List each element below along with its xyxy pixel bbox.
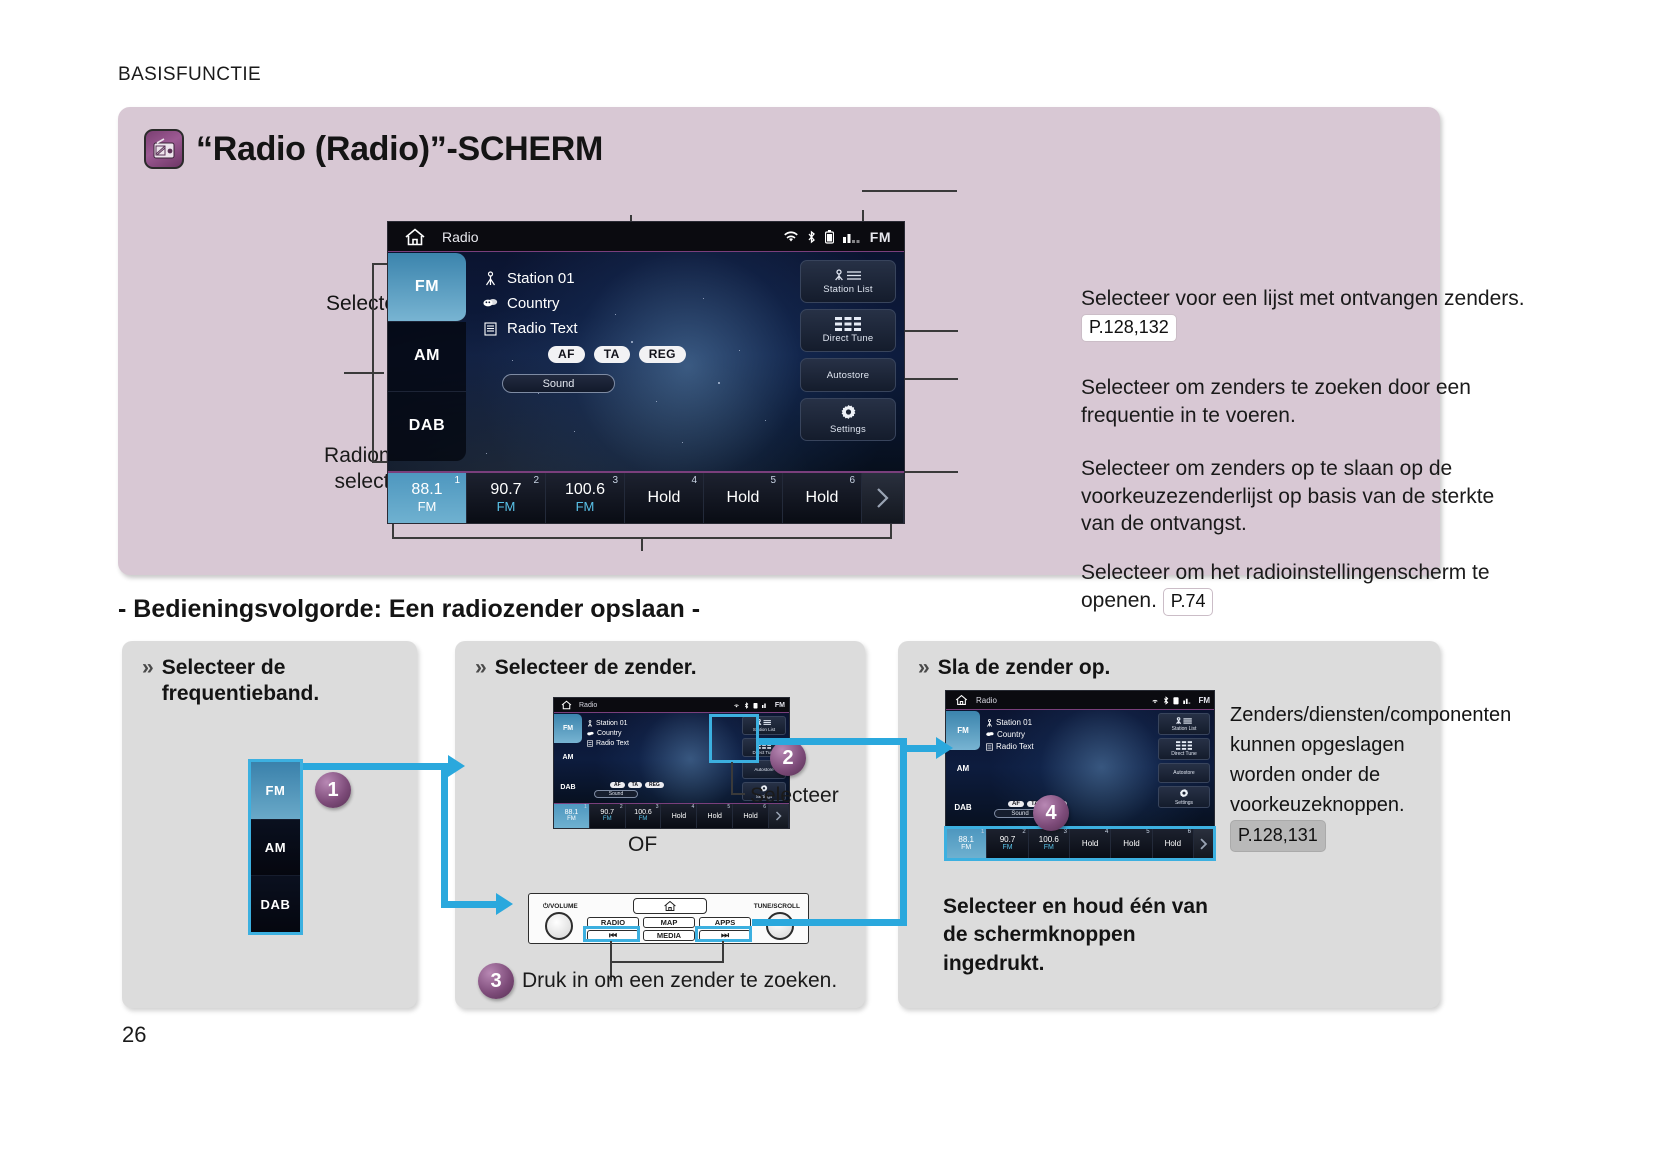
preset-number: 3 bbox=[656, 804, 659, 810]
procedure-title: - Bedieningsvolgorde: Een radiozender op… bbox=[118, 595, 700, 624]
leader-line bbox=[722, 941, 724, 963]
station-list-label: Station List bbox=[1172, 726, 1197, 732]
band-dab[interactable]: DAB bbox=[554, 773, 582, 802]
page-title: “Radio (Radio)”-SCHERM bbox=[196, 130, 603, 169]
status-icons: FM bbox=[1151, 696, 1214, 705]
radio-text: Radio Text bbox=[507, 320, 578, 337]
direct-tune-button[interactable]: Direct Tune bbox=[1158, 738, 1210, 760]
status-bar: Radio FM bbox=[554, 698, 789, 713]
tune-scroll-knob[interactable] bbox=[766, 912, 794, 940]
band-badge: FM bbox=[775, 702, 785, 709]
battery-icon bbox=[753, 702, 758, 709]
genre-name: Country bbox=[507, 295, 560, 312]
select-label: Selecteer bbox=[750, 784, 839, 808]
leader-line bbox=[731, 762, 733, 795]
flow-arrow-1-v bbox=[441, 763, 448, 908]
preset-number: 1 bbox=[584, 804, 587, 810]
bluetooth-icon bbox=[807, 230, 816, 244]
radio-screen[interactable]: Radio FM FM AM DAB Station 01 Country bbox=[387, 221, 905, 524]
preset-3[interactable]: 3100.6FM bbox=[626, 804, 662, 828]
home-icon bbox=[663, 900, 677, 912]
leader-line bbox=[862, 190, 957, 192]
settings-button[interactable]: Settings bbox=[1158, 786, 1210, 808]
step-bullet-3: 3 bbox=[478, 963, 514, 999]
autostore-button[interactable]: Autostore bbox=[1158, 763, 1210, 783]
tag-reg[interactable]: REG bbox=[639, 346, 686, 363]
callout-autostore: Selecteer om zenders op te slaan op de v… bbox=[1081, 455, 1531, 538]
keypad-icon bbox=[835, 317, 861, 331]
preset-note: Zenders/diensten/componenten kunnen opge… bbox=[1230, 700, 1435, 852]
direct-tune-label: Direct Tune bbox=[823, 333, 874, 344]
callout-text: Selecteer om zenders op te slaan op de v… bbox=[1081, 457, 1494, 535]
step-bullet-4: 4 bbox=[1033, 795, 1069, 831]
home-icon[interactable] bbox=[388, 227, 442, 247]
preset-number: 3 bbox=[612, 475, 618, 486]
preset-frequency: 88.1 bbox=[565, 809, 579, 816]
map-button[interactable]: MAP bbox=[643, 917, 695, 928]
home-button[interactable] bbox=[633, 898, 707, 914]
side-button-column[interactable]: Station List Direct Tune Autostore Setti… bbox=[1158, 713, 1210, 811]
status-bar: Radio FM bbox=[946, 691, 1214, 710]
home-icon[interactable] bbox=[946, 694, 976, 706]
flow-arrow-2-h bbox=[759, 738, 907, 745]
preset-number: 2 bbox=[620, 804, 623, 810]
tag-af[interactable]: AF bbox=[1008, 801, 1024, 807]
autostore-label: Autostore bbox=[827, 370, 869, 381]
info-row: Radio Text bbox=[587, 740, 629, 747]
tag-ta[interactable]: TA bbox=[628, 782, 642, 788]
preset-frequency: Hold bbox=[806, 490, 839, 507]
settings-button[interactable]: Settings bbox=[800, 398, 896, 441]
tag-af[interactable]: AF bbox=[610, 782, 625, 788]
step-3-heading: » Sla de zender op. bbox=[918, 655, 1426, 681]
step-1-heading: » Selecteer de frequentieband. bbox=[142, 655, 403, 706]
station-list-button[interactable]: Station List bbox=[800, 260, 896, 303]
band-fm[interactable]: FM bbox=[554, 714, 582, 743]
leader-line bbox=[610, 961, 724, 963]
autostore-label: Autostore bbox=[754, 767, 773, 772]
hold-instruction: Selecteer en houd één van de schermknopp… bbox=[943, 893, 1233, 978]
band-strip-am[interactable]: AM bbox=[251, 819, 300, 876]
preset-number: 1 bbox=[454, 475, 460, 486]
bluetooth-icon bbox=[1163, 696, 1169, 705]
info-row: Radio Text bbox=[986, 742, 1034, 751]
step-2-heading-text: Selecteer de zender. bbox=[495, 655, 697, 681]
preset-2[interactable]: 2 90.7 FM bbox=[467, 473, 546, 523]
wifi-icon bbox=[733, 702, 740, 708]
band-fm[interactable]: FM bbox=[388, 253, 466, 322]
flow-arrow-1-tip-b bbox=[496, 893, 513, 915]
battery-icon bbox=[1173, 696, 1179, 705]
antenna-icon bbox=[482, 271, 498, 287]
chevron-right-icon bbox=[774, 809, 783, 823]
callout-station-list: Selecteer voor een lijst met ontvangen z… bbox=[1081, 285, 1531, 342]
leader-line bbox=[731, 793, 745, 795]
preset-next-button[interactable] bbox=[862, 473, 904, 523]
battery-icon bbox=[825, 230, 834, 244]
step-bullet-2: 2 bbox=[770, 740, 806, 776]
preset-frequency: Hold bbox=[708, 813, 722, 820]
info-row: Country bbox=[482, 295, 578, 312]
info-row: Radio Text bbox=[482, 320, 578, 337]
step-2-heading: » Selecteer de zender. bbox=[475, 655, 851, 681]
page-ref-badge: P.74 bbox=[1163, 588, 1214, 617]
preset-band: FM bbox=[639, 816, 648, 823]
wifi-icon bbox=[1151, 697, 1159, 704]
gear-icon bbox=[1179, 789, 1189, 799]
tag-ta[interactable]: TA bbox=[594, 346, 630, 363]
tune-label: TUNE/SCROLL bbox=[754, 903, 800, 910]
preset-number: 4 bbox=[692, 804, 695, 810]
preset-3[interactable]: 3 100.6 FM bbox=[546, 473, 625, 523]
preset-6[interactable]: 6 Hold bbox=[783, 473, 862, 523]
preset-frequency: 88.1 bbox=[411, 482, 442, 499]
status-bar: Radio FM bbox=[388, 222, 904, 252]
preset-band: FM bbox=[418, 499, 437, 514]
gear-icon bbox=[840, 405, 857, 422]
preset-1[interactable]: 1 88.1 FM bbox=[388, 473, 467, 523]
preset-note-text: Zenders/diensten/componenten kunnen opge… bbox=[1230, 704, 1511, 816]
preset-number: 5 bbox=[770, 475, 776, 486]
info-row: Station 01 bbox=[482, 270, 578, 287]
press-to-seek-label: Druk in om een zender te zoeken. bbox=[522, 969, 837, 993]
preset-band: FM bbox=[603, 816, 612, 823]
preset-frequency: Hold bbox=[648, 490, 681, 507]
screen-title-label: Radio bbox=[579, 702, 597, 709]
settings-label: Settings bbox=[1175, 800, 1193, 806]
leader-line bbox=[641, 537, 643, 551]
preset-number: 5 bbox=[727, 804, 730, 810]
callout-text: Selecteer om het radioinstellingenscherm… bbox=[1081, 561, 1490, 612]
step-3-heading-text: Sla de zender op. bbox=[938, 655, 1111, 681]
tag-af[interactable]: AF bbox=[548, 346, 585, 363]
station-name: Station 01 bbox=[507, 270, 575, 287]
genre-icon bbox=[587, 731, 594, 737]
radio-icon bbox=[144, 129, 184, 169]
text-icon bbox=[482, 321, 498, 337]
flow-arrow-3-h2 bbox=[900, 745, 940, 752]
band-am[interactable]: AM bbox=[388, 322, 466, 391]
highlight-preset-bar bbox=[944, 826, 1216, 861]
band-selector[interactable]: FM AM DAB bbox=[388, 253, 466, 461]
preset-band: FM bbox=[497, 499, 516, 514]
genre-icon bbox=[986, 731, 994, 738]
info-row: Station 01 bbox=[587, 720, 629, 727]
flow-arrow-1-h bbox=[303, 763, 448, 770]
flow-arrow-3-v bbox=[900, 745, 907, 926]
info-row: Station 01 bbox=[986, 718, 1034, 727]
keypad-icon bbox=[1176, 741, 1192, 750]
preset-frequency: Hold bbox=[672, 813, 686, 820]
flow-arrow-3-h bbox=[752, 919, 907, 926]
rds-tags[interactable]: AF TA REG bbox=[610, 782, 664, 788]
band-selector[interactable]: FM AM DAB bbox=[946, 711, 980, 827]
preset-band: FM bbox=[576, 499, 595, 514]
tag-reg[interactable]: REG bbox=[645, 782, 664, 788]
station-list-label: Station List bbox=[823, 284, 872, 295]
info-row: Country bbox=[986, 730, 1034, 739]
flow-arrow-1-h2 bbox=[441, 901, 496, 908]
station-name: Station 01 bbox=[596, 720, 628, 727]
preset-number: 2 bbox=[533, 475, 539, 486]
station-name: Station 01 bbox=[996, 718, 1032, 727]
preset-1[interactable]: 188.1FM bbox=[554, 804, 590, 828]
home-icon[interactable] bbox=[554, 700, 579, 710]
band-strip-fm[interactable]: FM bbox=[251, 762, 300, 819]
or-label: OF bbox=[628, 833, 657, 857]
band-selector[interactable]: FM AM DAB bbox=[554, 714, 582, 802]
page-ref-badge: P.128,131 bbox=[1230, 820, 1326, 852]
screen-title-label: Radio bbox=[976, 696, 997, 705]
sound-button[interactable]: Sound bbox=[594, 790, 638, 798]
signal-icon bbox=[843, 231, 861, 243]
preset-4[interactable]: 4 Hold bbox=[625, 473, 704, 523]
preset-frequency: Hold bbox=[727, 490, 760, 507]
genre-name: Country bbox=[997, 730, 1025, 739]
band-strip-dab[interactable]: DAB bbox=[251, 875, 300, 932]
band-dab[interactable]: DAB bbox=[946, 788, 980, 827]
antenna-icon bbox=[587, 720, 593, 727]
leader-line bbox=[344, 372, 384, 374]
text-icon bbox=[587, 740, 593, 747]
flow-arrow-1-tip-a bbox=[448, 755, 465, 777]
preset-4[interactable]: 4Hold bbox=[661, 804, 697, 828]
media-button[interactable]: MEDIA bbox=[643, 930, 695, 941]
band-dab[interactable]: DAB bbox=[388, 392, 466, 461]
callout-text: Selecteer om zenders te zoeken door een … bbox=[1081, 376, 1471, 427]
callout-settings: Selecteer om het radioinstellingenscherm… bbox=[1081, 559, 1531, 616]
sound-button[interactable]: Sound bbox=[502, 374, 615, 393]
chevron-icon: » bbox=[142, 655, 154, 706]
band-strip-graphic[interactable]: FM AM DAB bbox=[248, 759, 303, 935]
direct-tune-label: Direct Tune bbox=[1171, 751, 1197, 757]
radio-text: Radio Text bbox=[996, 742, 1034, 751]
screen-title-label: Radio bbox=[442, 229, 479, 245]
wifi-icon bbox=[784, 231, 798, 242]
highlight-station-list-direct-tune bbox=[709, 714, 759, 763]
status-icons: FM bbox=[784, 229, 904, 245]
volume-label: ⏻/VOLUME bbox=[543, 903, 578, 911]
preset-frequency: Hold bbox=[743, 813, 757, 820]
callout-direct-tune: Selecteer om zenders te zoeken door een … bbox=[1081, 374, 1531, 429]
preset-number: 6 bbox=[849, 475, 855, 486]
bluetooth-icon bbox=[744, 702, 749, 709]
station-list-button[interactable]: Station List bbox=[1158, 713, 1210, 735]
preset-frequency: 90.7 bbox=[600, 809, 614, 816]
page-header: BASISFUNCTIE bbox=[118, 64, 261, 86]
flow-arrow-3-tip bbox=[936, 737, 953, 759]
autostore-label: Autostore bbox=[1173, 770, 1194, 776]
signal-icon bbox=[1183, 697, 1194, 704]
direct-tune-button[interactable]: Direct Tune bbox=[800, 309, 896, 352]
side-button-column[interactable]: Station List Direct Tune Autostore Setti… bbox=[800, 260, 896, 447]
signal-icon bbox=[762, 702, 771, 708]
highlight-seek-prev bbox=[583, 926, 640, 942]
autostore-button[interactable]: Autostore bbox=[800, 358, 896, 392]
chevron-icon: » bbox=[475, 655, 487, 681]
now-playing-info: Station 01 Country Radio Text bbox=[482, 270, 578, 345]
leader-line bbox=[372, 263, 374, 463]
preset-5[interactable]: 5Hold bbox=[697, 804, 733, 828]
info-row: Country bbox=[587, 730, 629, 737]
genre-name: Country bbox=[597, 730, 622, 737]
page-number: 26 bbox=[122, 1022, 146, 1048]
step-1-heading-text: Selecteer de frequentieband. bbox=[162, 655, 403, 706]
genre-icon bbox=[482, 296, 498, 312]
volume-knob[interactable] bbox=[545, 912, 573, 940]
preset-number: 4 bbox=[691, 475, 697, 486]
settings-label: Settings bbox=[830, 424, 866, 435]
preset-band: FM bbox=[567, 816, 576, 823]
text-icon bbox=[986, 743, 993, 751]
page-ref-badge: P.128,132 bbox=[1081, 314, 1177, 343]
preset-2[interactable]: 290.7FM bbox=[590, 804, 626, 828]
preset-5[interactable]: 5 Hold bbox=[704, 473, 783, 523]
preset-frequency: 90.7 bbox=[490, 482, 521, 499]
status-icons: FM bbox=[733, 702, 789, 709]
chevron-right-icon bbox=[874, 485, 892, 511]
band-am[interactable]: AM bbox=[554, 743, 582, 772]
panel-title-row: “Radio (Radio)”-SCHERM bbox=[144, 129, 603, 169]
preset-frequency: 100.6 bbox=[634, 809, 652, 816]
now-playing-info: Station 01 Country Radio Text bbox=[587, 720, 629, 750]
rds-tags[interactable]: AF TA REG bbox=[548, 346, 686, 363]
station-list-icon bbox=[1175, 717, 1193, 725]
band-badge: FM bbox=[1198, 696, 1210, 705]
radio-text: Radio Text bbox=[596, 740, 629, 747]
chevron-icon: » bbox=[918, 655, 930, 681]
station-list-icon bbox=[833, 269, 863, 282]
step-bullet-1: 1 bbox=[315, 772, 351, 808]
highlight-seek-next bbox=[695, 926, 752, 942]
band-badge: FM bbox=[870, 229, 895, 245]
now-playing-info: Station 01 Country Radio Text bbox=[986, 718, 1034, 754]
preset-bar[interactable]: 1 88.1 FM 2 90.7 FM 3 100.6 FM 4 Hold 5 … bbox=[388, 471, 904, 523]
preset-frequency: 100.6 bbox=[565, 482, 605, 499]
callout-text: Selecteer voor een lijst met ontvangen z… bbox=[1081, 287, 1525, 310]
antenna-icon bbox=[986, 719, 993, 727]
